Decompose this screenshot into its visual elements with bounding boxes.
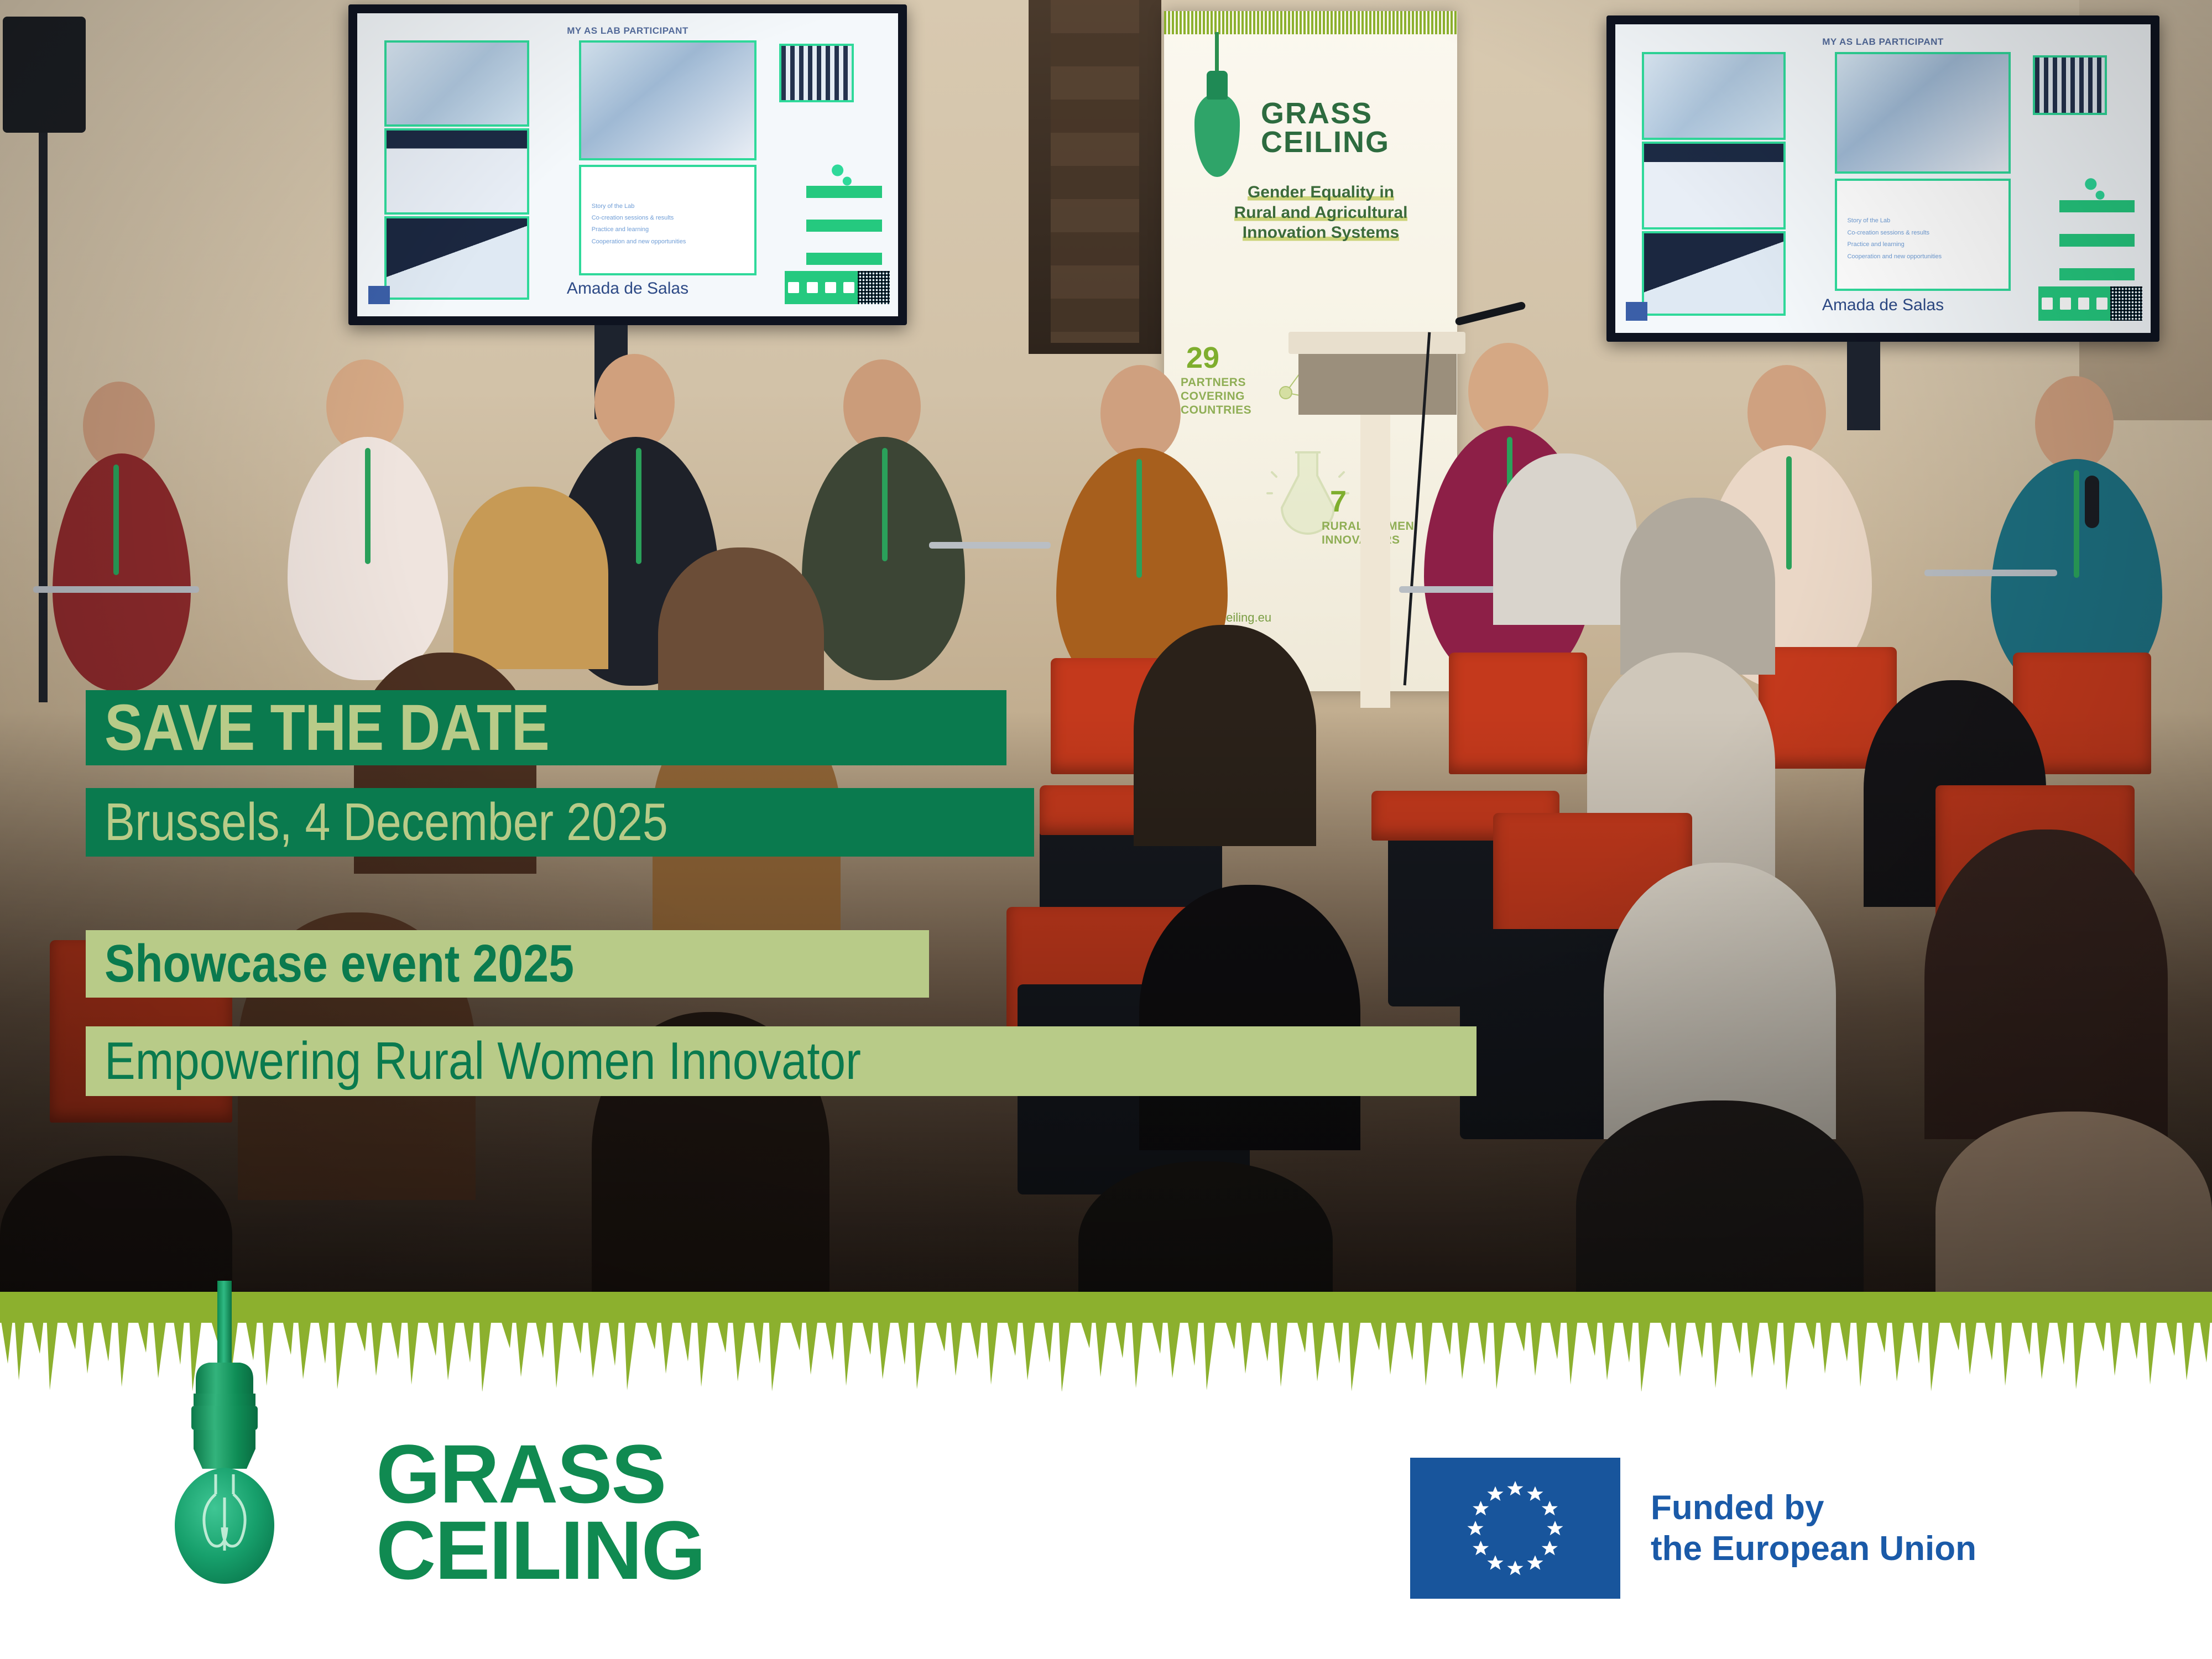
slide-bullet-box: Story of the Lab Co-creation sessions & … (579, 165, 757, 275)
chair-rail (1924, 570, 2057, 576)
eu-flag-mini-icon (368, 286, 390, 304)
lanyard (113, 465, 119, 575)
audience-head (453, 487, 608, 669)
audience-head (1576, 1100, 1864, 1292)
presentation-screen-right: MY AS LAB PARTICIPANT Story of the Lab C… (1606, 15, 2159, 342)
stat1-l3: COUNTRIES (1181, 404, 1251, 416)
banner-title: GRASS CEILING (1261, 100, 1390, 157)
presentation-screen-left: MY AS LAB PARTICIPANT Story of the Lab C… (348, 4, 907, 325)
event-bar: Showcase event 2025 (86, 930, 929, 998)
audience-head (1493, 453, 1637, 625)
handheld-microphone-icon (2085, 476, 2099, 528)
instagram-icon (843, 282, 854, 293)
panelist-head (1100, 365, 1181, 462)
audience-head (1134, 625, 1316, 846)
slide-chip-3 (806, 253, 882, 265)
slide2-photo-bottles (2033, 55, 2107, 115)
logo-line-2: CEILING (376, 1512, 705, 1588)
slide2-bullet-3: Practice and learning (1847, 241, 1904, 248)
slide-heading: MY AS LAB PARTICIPANT (567, 25, 688, 36)
footer: GRASS CEILING (0, 1391, 2212, 1659)
qr-code-icon (858, 271, 890, 304)
slide-photo-1 (384, 40, 529, 127)
slide-bullet-4: Cooperation and new opportunities (592, 238, 686, 245)
slide2-chip-1 (2059, 200, 2135, 212)
facebook-icon (2042, 298, 2053, 310)
hanging-lightbulb-icon (138, 1281, 359, 1590)
slide2-photo-main (1835, 52, 2011, 174)
tagline-bar: Empowering Rural Women Innovator (86, 1026, 1477, 1096)
lanyard (2074, 470, 2079, 578)
slide2-chip-3 (2059, 268, 2135, 280)
loudspeaker (3, 17, 86, 133)
logo-wordmark: GRASS CEILING (376, 1436, 705, 1588)
audience-head (1139, 885, 1360, 1150)
slide-presenter-name: Amada de Salas (567, 279, 688, 298)
lanyard (1136, 459, 1142, 578)
eu-funding-badge: Funded by the European Union (1410, 1458, 1976, 1599)
panelist-head (594, 354, 675, 451)
slide2-presenter-name: Amada de Salas (1822, 296, 1944, 315)
grass-ceiling-logo: GRASS CEILING (138, 1347, 747, 1657)
eu-text-line-1: Funded by (1651, 1489, 1824, 1527)
audience-head (1604, 863, 1836, 1139)
lectern-top (1288, 332, 1465, 354)
slide2-bullet-box: Story of the Lab Co-creation sessions & … (1835, 179, 2011, 291)
banner-stat1-label: PARTNERS COVERING COUNTRIES (1181, 376, 1251, 417)
banner-subtitle-line1: Gender Equality in (1248, 183, 1394, 201)
linkedin-icon (825, 282, 836, 293)
slide2-photo-2 (1642, 142, 1786, 229)
auditorium-chair (1449, 653, 1587, 774)
tagline-text: Empowering Rural Women Innovator (105, 1031, 861, 1092)
lanyard (882, 448, 888, 561)
linkedin-icon (2078, 298, 2089, 310)
speaker-stand-pole (39, 133, 48, 702)
slide-right: MY AS LAB PARTICIPANT Story of the Lab C… (1615, 24, 2151, 333)
slide2-bullet-1: Story of the Lab (1847, 217, 1890, 224)
slide-bullet-1: Story of the Lab (592, 203, 635, 210)
instagram-icon (2096, 298, 2107, 310)
panelist-head (1468, 343, 1548, 440)
date-bar: Brussels, 4 December 2025 (86, 788, 1034, 857)
eu-funding-text: Funded by the European Union (1651, 1488, 1976, 1568)
screen-right-stand (1847, 342, 1880, 430)
slide-photo-2 (384, 128, 529, 215)
audience-head (1620, 498, 1775, 675)
slide2-photo-3 (1642, 231, 1786, 316)
slide-bullet-3: Practice and learning (592, 226, 649, 233)
event-text: Showcase event 2025 (105, 933, 574, 994)
slide-bullet-2: Co-creation sessions & results (592, 215, 674, 221)
eu-flag-mini-icon (1626, 302, 1647, 320)
wall-hex-pattern (1051, 0, 1139, 343)
slide2-bullet-2: Co-creation sessions & results (1847, 229, 1929, 236)
slide-photo-main (579, 40, 757, 160)
facebook-icon (788, 282, 799, 293)
banner-subtitle: Gender Equality in Rural and Agricultura… (1194, 182, 1447, 243)
slide-photo-3 (384, 216, 529, 299)
qr-code-icon (2110, 286, 2142, 320)
headline-text: SAVE THE DATE (105, 690, 549, 765)
stat1-l1: PARTNERS (1181, 376, 1246, 389)
banner-stat1-number: 29 (1186, 343, 1219, 373)
poster-canvas: MY AS LAB PARTICIPANT Story of the Lab C… (0, 0, 2212, 1659)
event-photograph: MY AS LAB PARTICIPANT Story of the Lab C… (0, 0, 2212, 1292)
audience-head (1924, 830, 2168, 1139)
banner-subtitle-line3: Innovation Systems (1243, 223, 1399, 242)
lanyard (1786, 456, 1792, 570)
chair-rail (33, 586, 199, 593)
banner-grass-icon (1164, 11, 1457, 34)
banner-title-line2: CEILING (1261, 126, 1390, 159)
slide-left: MY AS LAB PARTICIPANT Story of the Lab C… (357, 13, 898, 316)
slide-chip-2 (806, 220, 882, 232)
lanyard (636, 448, 641, 564)
lectern-face (1298, 354, 1457, 415)
twitter-icon (2060, 298, 2071, 310)
date-text: Brussels, 4 December 2025 (105, 792, 668, 853)
eu-flag-icon (1410, 1458, 1620, 1599)
eu-stars-icon (1410, 1458, 1620, 1599)
banner-lightbulb-icon (1194, 94, 1240, 177)
slide2-bullet-4: Cooperation and new opportunities (1847, 253, 1942, 260)
slide2-photo-1 (1642, 52, 1786, 140)
stat1-l2: COVERING (1181, 390, 1245, 403)
eu-text-line-2: the European Union (1651, 1530, 1976, 1568)
slide-heading-2: MY AS LAB PARTICIPANT (1822, 36, 1944, 48)
slide-photo-bottles (779, 44, 854, 103)
banner-subtitle-line2: Rural and Agricultural (1234, 204, 1408, 222)
chair-rail (929, 542, 1051, 549)
slide2-chip-2 (2059, 234, 2135, 246)
twitter-icon (807, 282, 818, 293)
lanyard (365, 448, 371, 564)
save-the-date-bar: SAVE THE DATE (86, 690, 1006, 765)
panelist-head (2035, 376, 2114, 471)
slide-chip-1 (806, 186, 882, 198)
lectern-stem (1360, 415, 1390, 708)
